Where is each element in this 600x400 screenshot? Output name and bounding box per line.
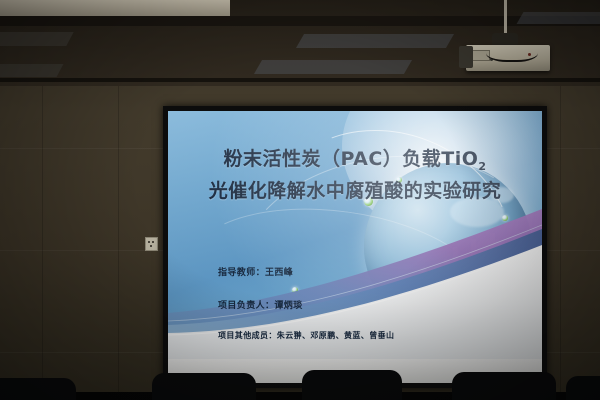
chair-silhouette (0, 378, 76, 400)
ceiling-light-strip (0, 0, 230, 16)
wall-seam-vertical (560, 60, 561, 400)
ceiling-slot (0, 64, 63, 77)
chair-silhouette (152, 373, 256, 400)
wall-seam-vertical (42, 60, 43, 400)
leader-line: 项目负责人：谭炳琰 (218, 298, 303, 311)
wall-seam-vertical (118, 60, 119, 400)
slide-title: 粉末活性炭（PAC）负载TiO2 光催化降解水中腐殖酸的实验研究 (168, 147, 542, 204)
title-subscript: 2 (478, 160, 486, 173)
projector-mount-pole (504, 0, 507, 36)
presentation-slide: 粉末活性炭（PAC）负载TiO2 光催化降解水中腐殖酸的实验研究 指导教师：王西… (168, 111, 542, 359)
projector-cable (486, 40, 538, 62)
chair-silhouette (566, 376, 600, 400)
advisor-line: 指导教师：王西峰 (218, 265, 293, 278)
chair-silhouette (302, 370, 402, 400)
projector-lens (459, 46, 473, 68)
chair-silhouette (452, 372, 556, 400)
wall-power-socket[interactable] (145, 237, 158, 251)
projection-screen-frame: 粉末活性炭（PAC）负载TiO2 光催化降解水中腐殖酸的实验研究 指导教师：王西… (163, 106, 547, 388)
title-line1: 粉末活性炭（PAC）负载TiO (223, 148, 478, 170)
projection-screen-surface[interactable]: 粉末活性炭（PAC）负载TiO2 光催化降解水中腐殖酸的实验研究 指导教师：王西… (168, 111, 542, 383)
lecture-room-scene: 粉末活性炭（PAC）负载TiO2 光催化降解水中腐殖酸的实验研究 指导教师：王西… (0, 0, 600, 400)
title-line2: 光催化降解水中腐殖酸的实验研究 (168, 179, 542, 204)
ceiling-edge (0, 78, 600, 82)
members-line: 项目其他成员：朱云翀、邓原鹏、黄蓝、曾垂山 (218, 330, 394, 341)
ceiling-slot (517, 12, 600, 24)
ceiling-dark-band (0, 16, 600, 26)
ceiling-slot (254, 60, 412, 74)
slide-text-layer: 粉末活性炭（PAC）负载TiO2 光催化降解水中腐殖酸的实验研究 指导教师：王西… (168, 111, 542, 359)
ceiling-slot (296, 34, 454, 48)
ceiling-slot (0, 32, 74, 46)
